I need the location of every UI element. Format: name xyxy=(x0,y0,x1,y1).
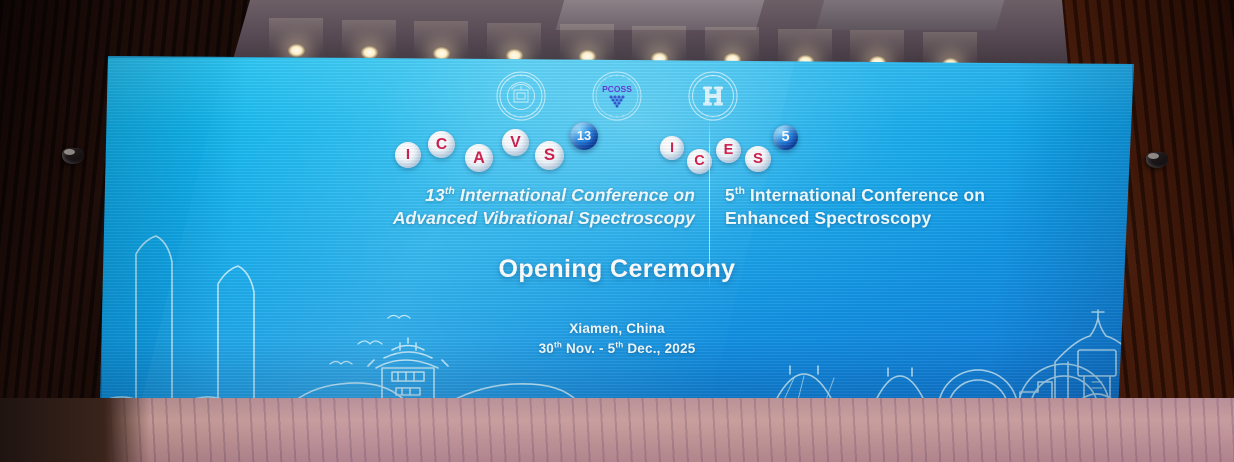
wall-light-fixture xyxy=(62,148,84,164)
icavs-title: 13th International Conference on Advance… xyxy=(130,184,695,230)
ceiling-downlight xyxy=(288,44,305,57)
logo-letter-s-4: S xyxy=(535,141,564,170)
organizer-emblem-row: PCOSS xyxy=(100,70,1134,122)
conference-logo-row: ICAVS13 ICES5 xyxy=(100,120,1134,184)
stage-floor-shadow xyxy=(0,398,150,462)
huaqiao-emblem-icon xyxy=(687,70,739,122)
ceiling-downlight xyxy=(361,46,378,59)
clock-tower xyxy=(1020,310,1134,410)
logo-edition-badge: 13 xyxy=(570,122,598,150)
ices-title: 5th International Conference on Enhanced… xyxy=(725,184,1125,230)
logo-letter-v-3: V xyxy=(502,129,529,156)
logo-letter-i-0: I xyxy=(660,136,684,160)
logo-letter-e-2: E xyxy=(716,138,741,163)
xiamen-university-seal-icon xyxy=(495,70,547,122)
screen-content: PCOSS xyxy=(100,56,1134,412)
logo-letter-c-1: C xyxy=(428,131,455,158)
ceiling-panel xyxy=(816,0,1005,30)
stage-floor xyxy=(0,398,1234,462)
logo-letter-i-0: I xyxy=(395,142,421,168)
svg-text:PCOSS: PCOSS xyxy=(602,84,632,94)
pcoss-logo-icon: PCOSS xyxy=(591,70,643,122)
wall-light-fixture xyxy=(1146,152,1168,168)
tower-left xyxy=(136,236,172,410)
icavs-title-line2: Advanced Vibrational Spectroscopy xyxy=(130,207,695,230)
icavs-title-line1: 13th International Conference on xyxy=(130,184,695,207)
tower-right xyxy=(218,266,254,410)
ices-logo: ICES5 xyxy=(660,120,850,184)
ices-title-line2: Enhanced Spectroscopy xyxy=(725,207,1125,230)
logo-edition-badge: 5 xyxy=(773,125,798,150)
led-screen: PCOSS xyxy=(100,56,1134,412)
logo-letter-s-3: S xyxy=(745,146,771,172)
auditorium-scene: PCOSS xyxy=(0,0,1234,462)
ices-title-line1: 5th International Conference on xyxy=(725,184,1125,207)
conference-titles: 13th International Conference on Advance… xyxy=(100,184,1134,236)
logo-letter-a-2: A xyxy=(465,144,493,172)
icavs-logo: ICAVS13 xyxy=(395,120,635,184)
xiamen-skyline-artwork xyxy=(100,232,1134,412)
